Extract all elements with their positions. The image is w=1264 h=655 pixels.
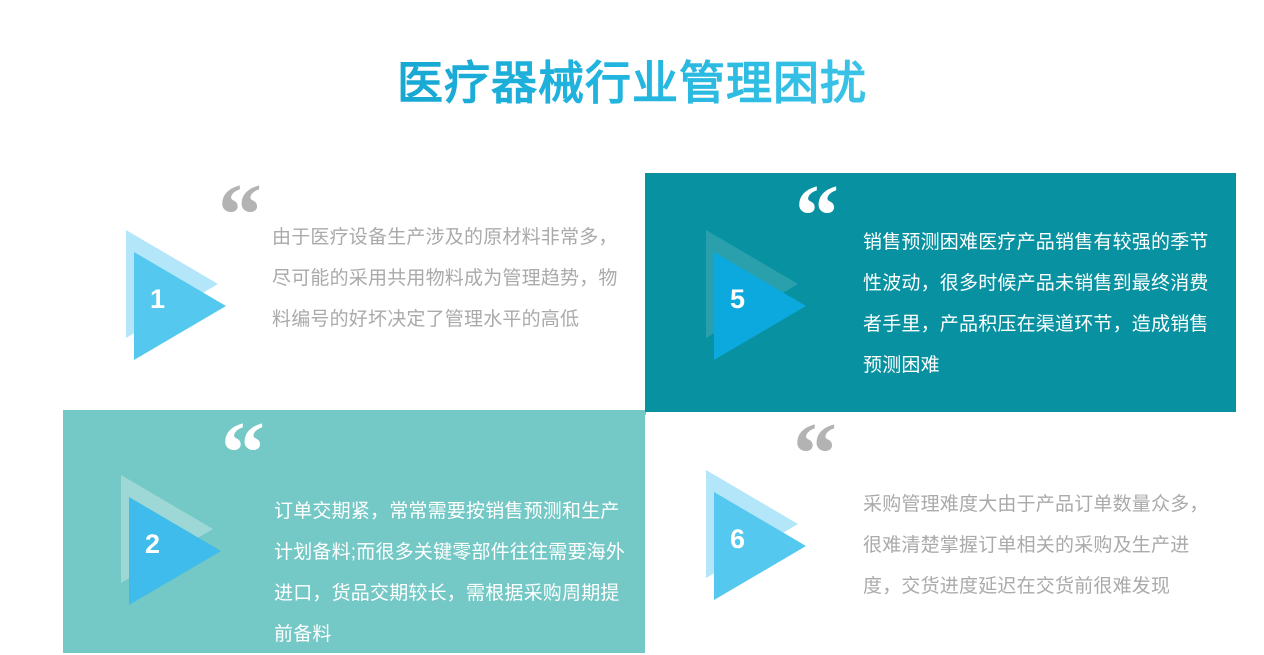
card-body-text-1: 由于医疗设备生产涉及的原材料非常多，尽可能的采用共用物料成为管理趋势，物料编号的… <box>272 217 624 340</box>
problem-card-6: 6 “ 采购管理难度大由于产品订单数量众多，很难清楚掌握订单相关的采购及生产进度… <box>645 415 1236 653</box>
arrow-front-triangle-icon <box>134 252 226 360</box>
card-number-2: 2 <box>145 531 160 558</box>
card-number-6: 6 <box>730 526 745 553</box>
arrow-front-triangle-icon <box>714 252 806 360</box>
arrow-badge-2: 2 <box>115 475 235 605</box>
quote-mark-icon-5: “ <box>795 183 839 252</box>
page-title: 医疗器械行业管理困扰 <box>0 53 1264 113</box>
arrow-front-triangle-icon <box>129 497 221 605</box>
card-body-text-5: 销售预测困难医疗产品销售有较强的季节性波动，很多时候产品未销售到最终消费者手里，… <box>863 222 1213 386</box>
quote-mark-icon-6: “ <box>793 421 837 490</box>
problem-card-2: 2 “ 订单交期紧，常常需要按销售预测和生产计划备料;而很多关键零部件往往需要海… <box>63 410 646 653</box>
quote-mark-icon-1: “ <box>218 182 262 251</box>
quote-mark-icon-2: “ <box>221 420 265 489</box>
problem-card-1: 1 “ 由于医疗设备生产涉及的原材料非常多，尽可能的采用共用物料成为管理趋势，物… <box>120 170 640 410</box>
card-body-text-2: 订单交期紧，常常需要按销售预测和生产计划备料;而很多关键零部件往往需要海外进口，… <box>274 491 630 655</box>
card-body-text-6: 采购管理难度大由于产品订单数量众多，很难清楚掌握订单相关的采购及生产进度，交货进… <box>863 484 1219 607</box>
arrow-front-triangle-icon <box>714 492 806 600</box>
card-number-5: 5 <box>730 286 745 313</box>
problem-card-5: 5 “ 销售预测困难医疗产品销售有较强的季节性波动，很多时候产品未销售到最终消费… <box>645 173 1236 412</box>
card-number-1: 1 <box>150 286 165 313</box>
